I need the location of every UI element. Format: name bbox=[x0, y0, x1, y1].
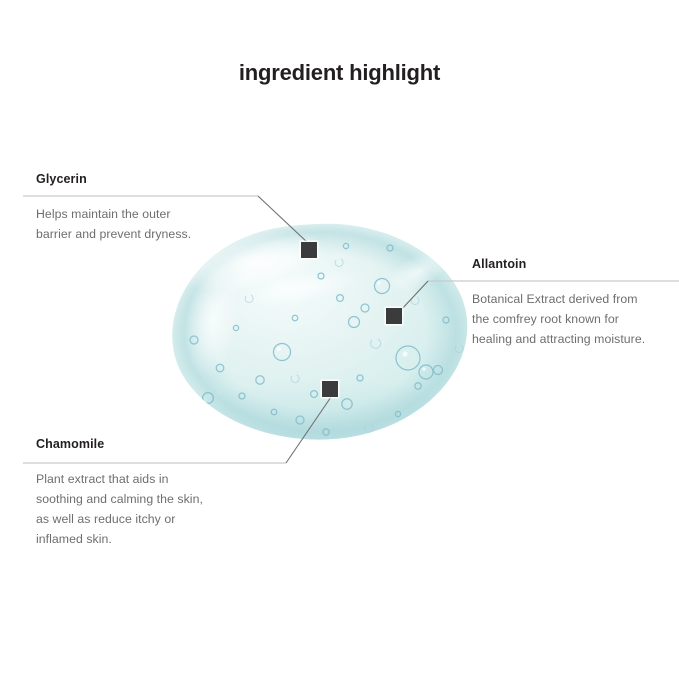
callout-chamomile-body: Plant extract that aids in soothing and … bbox=[36, 469, 203, 549]
callout-glycerin-title: Glycerin bbox=[36, 172, 191, 186]
callout-glycerin: Glycerin Helps maintain the outer barrie… bbox=[36, 172, 191, 244]
callout-allantoin-body-line: Botanical Extract derived from bbox=[472, 289, 645, 309]
glycerin-leader bbox=[258, 196, 308, 243]
glycerin-marker[interactable] bbox=[301, 242, 317, 258]
chamomile-marker[interactable] bbox=[322, 381, 338, 397]
allantoin-leader bbox=[401, 281, 428, 310]
chamomile-leader bbox=[286, 397, 331, 463]
allantoin-marker[interactable] bbox=[386, 308, 402, 324]
infographic-canvas: ingredient highlight bbox=[0, 0, 679, 679]
callout-allantoin-body-line: the comfrey root known for bbox=[472, 309, 645, 329]
callout-allantoin-body-line: healing and attracting moisture. bbox=[472, 329, 645, 349]
callout-chamomile: Chamomile Plant extract that aids in soo… bbox=[36, 437, 203, 549]
callout-glycerin-body: Helps maintain the outer barrier and pre… bbox=[36, 204, 191, 244]
callout-allantoin-body: Botanical Extract derived from the comfr… bbox=[472, 289, 645, 349]
callout-chamomile-body-line: Plant extract that aids in bbox=[36, 469, 203, 489]
callout-chamomile-body-line: soothing and calming the skin, bbox=[36, 489, 203, 509]
callout-glycerin-body-line: barrier and prevent dryness. bbox=[36, 224, 191, 244]
callout-chamomile-title: Chamomile bbox=[36, 437, 203, 451]
callout-chamomile-body-line: inflamed skin. bbox=[36, 529, 203, 549]
callout-glycerin-body-line: Helps maintain the outer bbox=[36, 204, 191, 224]
callout-allantoin-title: Allantoin bbox=[472, 257, 645, 271]
callout-allantoin: Allantoin Botanical Extract derived from… bbox=[472, 257, 645, 349]
callout-chamomile-body-line: as well as reduce itchy or bbox=[36, 509, 203, 529]
